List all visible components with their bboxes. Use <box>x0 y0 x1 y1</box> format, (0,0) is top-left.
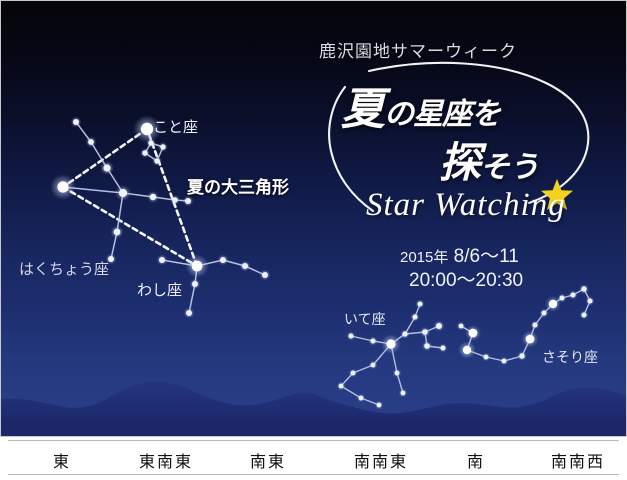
compass-direction-label: 東南東 <box>139 448 193 472</box>
event-subtitle: 鹿沢園地サマーウィーク <box>319 37 517 62</box>
title-line-2: 探そう <box>439 129 538 190</box>
constellation-cygnus <box>50 117 194 265</box>
compass-direction-label: 東 <box>53 448 71 472</box>
title-line-2-main: 探 <box>439 141 480 187</box>
cygnus-stars <box>50 117 194 265</box>
compass-rule-bottom <box>8 474 619 475</box>
constellation-label-cygnus: はくちょう座 <box>19 258 109 279</box>
event-time: 20:00～20:30 <box>409 265 523 292</box>
event-date-range: 8/6～11 <box>454 246 519 267</box>
compass-direction-label: 南 <box>467 448 485 472</box>
title-line-2-rest: そう <box>480 151 538 184</box>
summer-triangle-label: 夏の大三角形 <box>187 173 289 198</box>
constellation-label-sagittarius: いて座 <box>344 309 386 329</box>
title-english: Star Watching <box>366 187 566 224</box>
compass-direction-bar: 東東南東南東南南東南南南西 <box>0 437 627 480</box>
constellation-label-lyra: こと座 <box>153 116 198 137</box>
star-watching-poster: 鹿沢園地サマーウィーク 夏の星座を 探そう Star Watching 2015… <box>0 0 627 480</box>
title-line-1: 夏の星座を <box>341 73 500 137</box>
compass-rule-top <box>8 440 619 441</box>
constellation-label-aquila: わし座 <box>137 279 182 300</box>
compass-direction-label: 南東 <box>250 448 286 472</box>
title-line-1-rest: の星座を <box>384 98 500 131</box>
hills-silhouette <box>1 382 627 437</box>
compass-direction-label: 南南東 <box>354 448 408 472</box>
compass-direction-label: 南南西 <box>551 448 605 472</box>
event-date-year: 2015年 <box>400 249 448 266</box>
constellation-label-scorpius: さそり座 <box>542 347 598 367</box>
title-line-1-main: 夏 <box>341 85 384 134</box>
event-date: 2015年 8/6～11 <box>400 241 519 268</box>
night-sky-panel: 鹿沢園地サマーウィーク 夏の星座を 探そう Star Watching 2015… <box>0 0 627 437</box>
